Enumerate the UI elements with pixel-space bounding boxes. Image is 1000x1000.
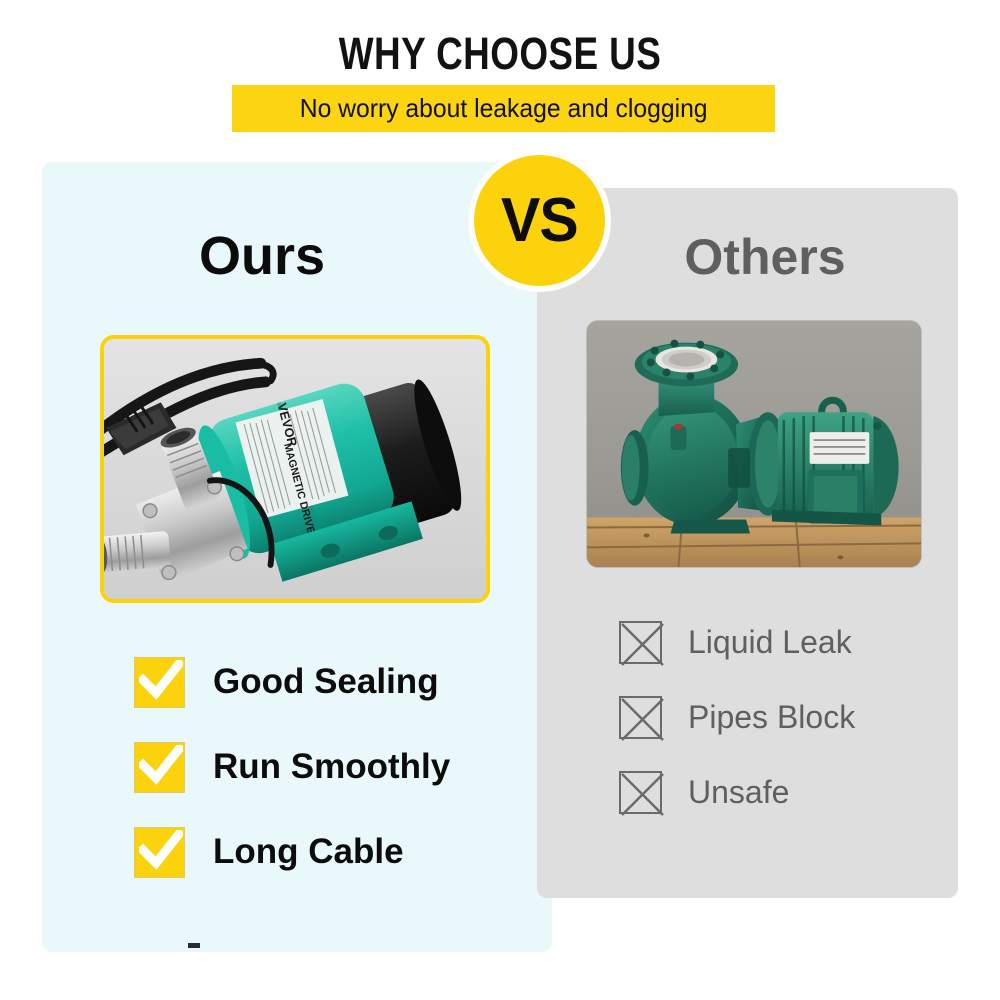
product-photo-ours: VEVOR MAGNETIC DRIVE [100, 335, 490, 603]
list-item: Good Sealing [134, 656, 450, 708]
heading-ours: Ours [42, 225, 482, 287]
x-box-icon [619, 696, 662, 739]
list-item-label: Long Cable [213, 832, 404, 872]
feature-list-others: Liquid Leak Pipes Block Unsafe [619, 620, 855, 845]
list-item-label: Liquid Leak [688, 624, 852, 661]
list-item: Run Smoothly [134, 741, 450, 793]
cropped-edge-artifact [188, 943, 200, 948]
check-icon [134, 742, 185, 793]
list-item: Unsafe [619, 770, 855, 814]
page-title: WHY CHOOSE US [90, 28, 910, 80]
list-item-label: Pipes Block [688, 699, 855, 736]
pump-ours-illustration: VEVOR MAGNETIC DRIVE [104, 339, 486, 599]
vs-label: VS [501, 185, 578, 256]
check-icon [134, 657, 185, 708]
list-item: Liquid Leak [619, 620, 855, 664]
pump-others-illustration [587, 321, 921, 567]
x-box-icon [619, 771, 662, 814]
vs-badge: VS [474, 155, 605, 286]
check-icon [134, 827, 185, 878]
product-photo-others [586, 320, 922, 568]
check-glyph [139, 660, 183, 706]
list-item-label: Good Sealing [213, 662, 439, 702]
x-box-icon [619, 621, 662, 664]
check-glyph [139, 830, 183, 876]
list-item: Long Cable [134, 826, 450, 878]
list-item-label: Unsafe [688, 774, 789, 811]
list-item: Pipes Block [619, 695, 855, 739]
subtitle-text: No worry about leakage and clogging [300, 93, 708, 124]
x-glyph [619, 771, 666, 818]
x-glyph [619, 696, 666, 743]
feature-list-ours: Good Sealing Run Smoothly Long Cable [134, 656, 450, 911]
list-item-label: Run Smoothly [213, 747, 450, 787]
heading-others: Others [600, 228, 930, 286]
subtitle-banner: No worry about leakage and clogging [232, 85, 775, 132]
x-glyph [619, 621, 666, 668]
check-glyph [139, 745, 183, 791]
